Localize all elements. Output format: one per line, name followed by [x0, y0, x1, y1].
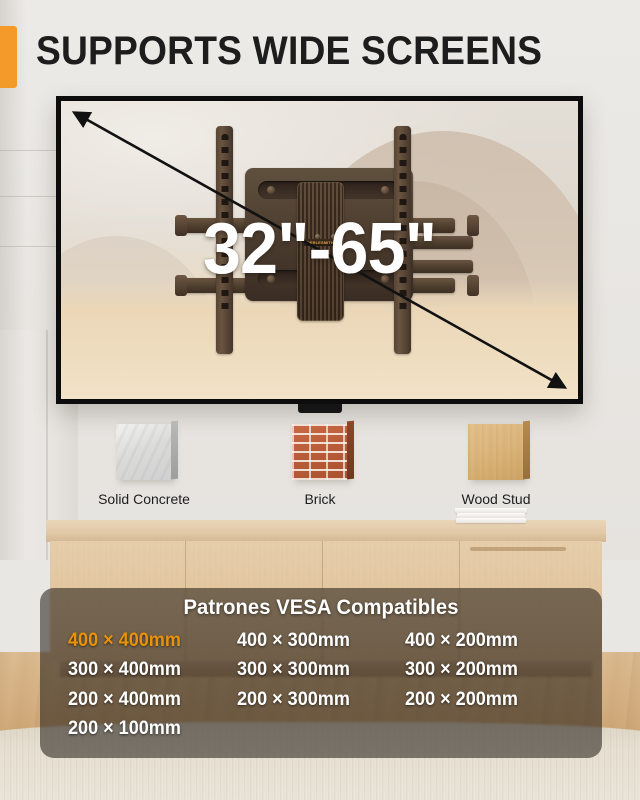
- screen-size-label: 32"-65": [74, 213, 565, 285]
- tv-foot: [298, 404, 342, 413]
- material-item-brick: Brick: [245, 424, 395, 507]
- wall-material-list: Solid Concrete Brick Wood Stud: [56, 424, 584, 516]
- vesa-pattern: 300 × 400mm: [68, 656, 228, 683]
- vesa-pattern: 300 × 300mm: [237, 656, 397, 683]
- vesa-pattern: 300 × 200mm: [405, 656, 565, 683]
- accent-bar: [0, 26, 17, 88]
- vesa-pattern: 200 × 100mm: [68, 715, 228, 742]
- concrete-swatch-icon: [116, 424, 172, 480]
- vesa-pattern: [405, 715, 565, 742]
- tv-unit: PERLESMITH 32"-65": [56, 96, 583, 404]
- page-title: SUPPORTS WIDE SCREENS: [36, 29, 542, 74]
- drawer-handle: [470, 547, 566, 551]
- material-item-concrete: Solid Concrete: [69, 424, 219, 507]
- vesa-pattern: 200 × 200mm: [405, 686, 565, 713]
- material-label: Wood Stud: [421, 491, 571, 507]
- vesa-panel: Patrones VESA Compatibles 400 × 400mm 40…: [40, 588, 602, 758]
- vesa-pattern: 400 × 400mm: [68, 627, 228, 654]
- vesa-pattern-grid: 400 × 400mm 400 × 300mm 400 × 200mm 300 …: [40, 627, 602, 742]
- product-feature-image: SUPPORTS WIDE SCREENS: [0, 0, 640, 800]
- tv-screen: PERLESMITH 32"-65": [61, 101, 578, 399]
- vesa-pattern: 200 × 300mm: [237, 686, 397, 713]
- material-label: Brick: [245, 491, 395, 507]
- vesa-pattern: 400 × 200mm: [405, 627, 565, 654]
- wood-swatch-icon: [468, 424, 524, 480]
- vesa-pattern: 200 × 400mm: [68, 686, 228, 713]
- vesa-pattern: 400 × 300mm: [237, 627, 397, 654]
- vesa-pattern: [237, 715, 397, 742]
- material-item-wood: Wood Stud: [421, 424, 571, 507]
- material-label: Solid Concrete: [69, 491, 219, 507]
- brick-swatch-icon: [292, 424, 348, 480]
- vesa-title: Patrones VESA Compatibles: [51, 596, 591, 620]
